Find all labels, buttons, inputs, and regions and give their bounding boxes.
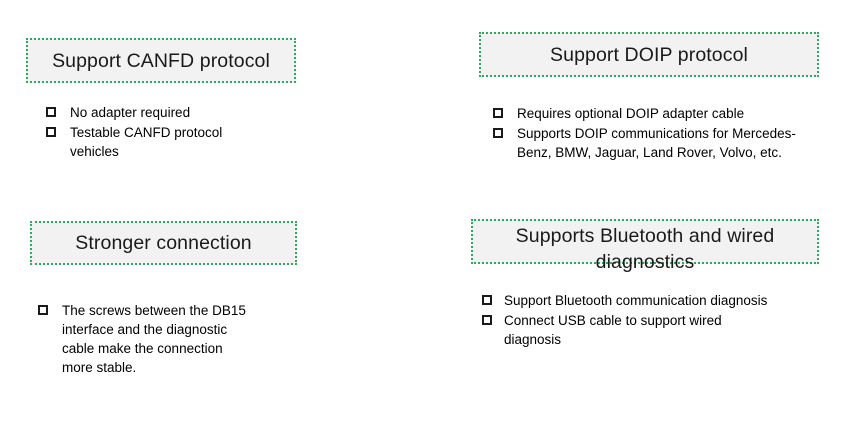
list-item-label: The screws between the DB15 interface an… xyxy=(62,301,248,377)
list-item-label: Requires optional DOIP adapter cable xyxy=(517,104,744,123)
heading-text-canfd: Support CANFD protocol xyxy=(28,48,294,74)
list-item-label: No adapter required xyxy=(70,103,190,122)
list-item-label: Supports DOIP communications for Mercede… xyxy=(517,124,802,162)
list-item: The screws between the DB15 interface an… xyxy=(38,301,288,377)
hollow-square-bullet-icon xyxy=(46,107,56,117)
hollow-square-bullet-icon xyxy=(482,315,492,325)
heading-text-stronger-connection: Stronger connection xyxy=(32,230,295,256)
list-item: Supports DOIP communications for Mercede… xyxy=(493,124,813,162)
heading-text-bluetooth-wired: Supports Bluetooth and wired diagnostics xyxy=(473,221,817,275)
hollow-square-bullet-icon xyxy=(38,305,48,315)
list-item-label: Testable CANFD protocol vehicles xyxy=(70,123,270,161)
list-item: Support Bluetooth communication diagnosi… xyxy=(482,291,802,310)
hollow-square-bullet-icon xyxy=(493,108,503,118)
heading-box-stronger-connection[interactable]: Stronger connection xyxy=(30,221,297,265)
bullet-list-doip: Requires optional DOIP adapter cable Sup… xyxy=(493,104,813,163)
list-item-label: Support Bluetooth communication diagnosi… xyxy=(504,291,767,310)
list-item: No adapter required xyxy=(46,103,296,122)
hollow-square-bullet-icon xyxy=(493,128,503,138)
hollow-square-bullet-icon xyxy=(482,295,492,305)
bullet-list-canfd: No adapter required Testable CANFD proto… xyxy=(46,103,296,162)
hollow-square-bullet-icon xyxy=(46,127,56,137)
heading-text-doip: Support DOIP protocol xyxy=(481,42,817,68)
heading-box-canfd[interactable]: Support CANFD protocol xyxy=(26,38,296,83)
list-item: Testable CANFD protocol vehicles xyxy=(46,123,296,161)
list-item: Connect USB cable to support wired diagn… xyxy=(482,311,802,349)
list-item: Requires optional DOIP adapter cable xyxy=(493,104,813,123)
bullet-list-bluetooth-wired: Support Bluetooth communication diagnosi… xyxy=(482,291,802,350)
bullet-list-stronger-connection: The screws between the DB15 interface an… xyxy=(38,301,288,378)
slide-canvas: Support CANFD protocol No adapter requir… xyxy=(0,0,857,442)
heading-box-bluetooth-wired[interactable]: Supports Bluetooth and wired diagnostics xyxy=(471,219,819,264)
list-item-label: Connect USB cable to support wired diagn… xyxy=(504,311,770,349)
heading-box-doip[interactable]: Support DOIP protocol xyxy=(479,32,819,77)
